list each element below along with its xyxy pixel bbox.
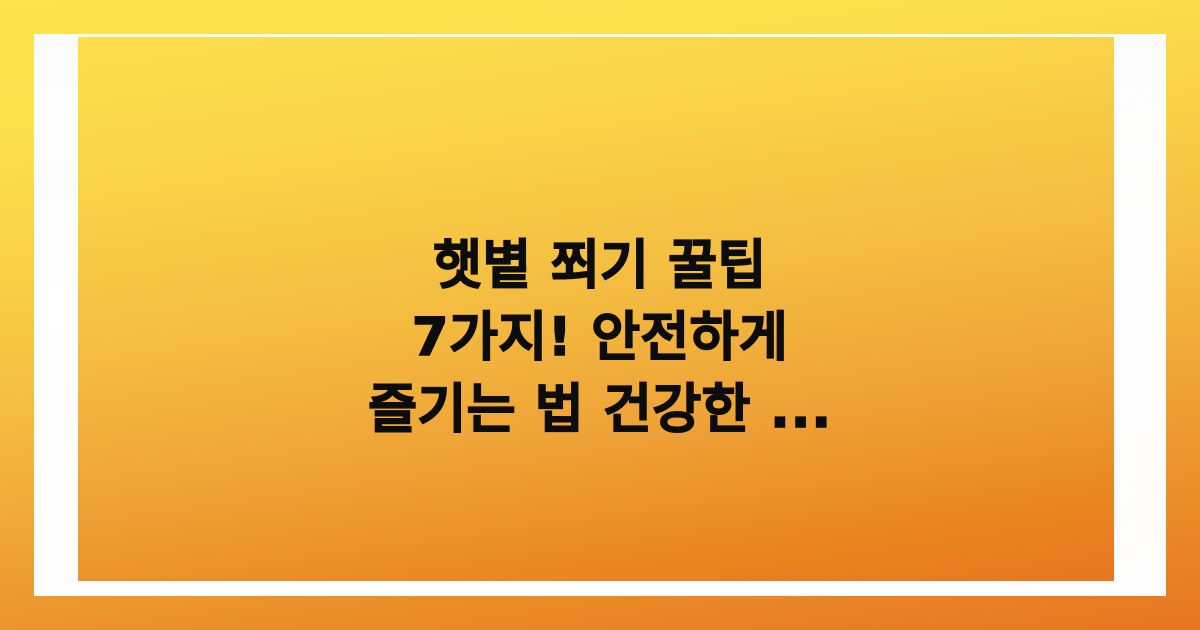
- headline-line-1: 햇볕 쬐기 꿀팁: [104, 230, 1096, 302]
- background-print-line: [335, 489, 544, 522]
- background-window-light-right: [934, 34, 1166, 254]
- background-document-sheet: [364, 434, 884, 596]
- background-print-line: [466, 195, 613, 232]
- background-print-line: [221, 151, 337, 189]
- background-document-shadow: [364, 442, 664, 596]
- background-print-line: [456, 173, 642, 220]
- background-chart-blob: [328, 472, 569, 596]
- background-print-line: [212, 132, 356, 179]
- background-print-highlight: [443, 179, 470, 193]
- background-print-line: [340, 514, 509, 541]
- background-print-line: [634, 457, 764, 474]
- card-content-stage: 햇볕 쬐기 꿀팁 7가지! 안전하게 즐기는 법 건강한 ...: [34, 34, 1166, 596]
- headline-line-2: 7가지! 안전하게: [104, 302, 1096, 374]
- background-print-line: [795, 140, 973, 171]
- headline-block: 햇볕 쬐기 꿀팁 7가지! 안전하게 즐기는 법 건강한 ...: [34, 230, 1166, 446]
- background-horizon-band: [34, 154, 1166, 224]
- thumbnail-card: 햇볕 쬐기 꿀팁 7가지! 안전하게 즐기는 법 건강한 ...: [0, 0, 1200, 630]
- background-hand-shape: [964, 434, 1166, 596]
- headline-line-3: 즐기는 법 건강한 ...: [104, 374, 1096, 446]
- background-print-line: [97, 507, 332, 564]
- background-cup-shape: [869, 489, 989, 549]
